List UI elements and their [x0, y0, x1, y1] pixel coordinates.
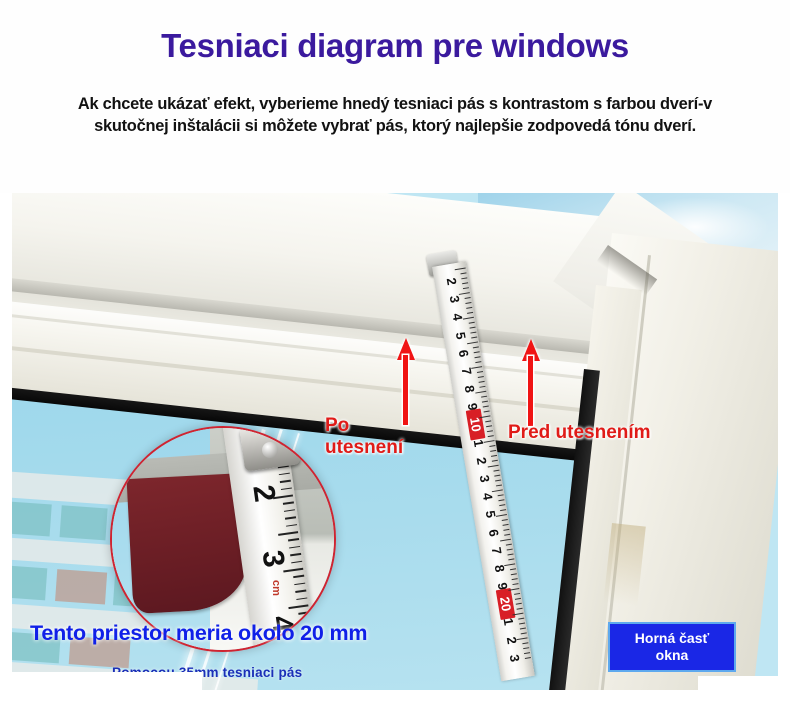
inset-tape-tick: [285, 516, 296, 519]
tape-tick: [516, 603, 522, 605]
tape-tick: [498, 494, 504, 496]
tape-tick: [510, 568, 516, 570]
inset-tape-tick: [291, 560, 302, 563]
label-after-seal: Po utesnení: [325, 415, 403, 459]
tape-tick: [474, 356, 480, 358]
tape-tick: [498, 499, 504, 501]
label-gap-measure: Tento priestor meria okolo 20 mm: [30, 621, 367, 646]
tape-tick: [455, 267, 466, 270]
inset-tape-tick: [288, 538, 299, 541]
tape-tick: [484, 440, 495, 443]
tape-tick: [478, 376, 484, 378]
tape-tick: [467, 341, 478, 344]
tape-tick: [522, 642, 528, 644]
magnified-detail-inset: 234 cm: [110, 426, 336, 652]
inset-tape-tick: [293, 575, 304, 578]
inset-tape-tick: [283, 502, 294, 505]
tape-tick: [517, 608, 523, 610]
tape-number: 3: [505, 642, 525, 674]
tape-tick: [491, 455, 497, 457]
tape-tick: [515, 598, 521, 600]
inset-tape-tick: [279, 472, 290, 475]
tape-tick: [496, 514, 507, 517]
tape-tick: [463, 287, 469, 289]
tape-tick: [499, 504, 505, 506]
tape-tick: [518, 618, 524, 620]
inset-tape-tick: [286, 524, 297, 527]
tape-tick: [474, 351, 480, 353]
tape-tick: [503, 524, 509, 526]
header-section: Tesniaci diagram pre windows Ak chcete u…: [0, 0, 790, 193]
tape-tick: [465, 297, 471, 299]
tape-tick: [483, 406, 489, 408]
tape-tick: [495, 480, 501, 482]
inset-sealing-strip: [127, 473, 249, 614]
tape-tick: [473, 346, 479, 348]
tape-tick: [467, 312, 473, 314]
tape-tick: [512, 583, 518, 585]
tape-tick: [486, 425, 492, 427]
tape-tick: [519, 623, 525, 625]
inset-tape-tick: [295, 590, 306, 593]
tape-tick: [475, 361, 481, 363]
tape-tick: [481, 396, 487, 398]
tape-tick: [492, 460, 498, 462]
tape-tick: [487, 430, 493, 432]
inset-tape-tick: [284, 509, 295, 512]
tape-tick: [469, 322, 475, 324]
inset-tape-rivet: [262, 442, 278, 458]
tape-tick: [517, 637, 528, 640]
inset-tape-tick: [296, 597, 307, 600]
label-before-seal: Pred utesnením: [508, 422, 651, 444]
tape-tick: [462, 282, 468, 284]
page-subtitle: Ak chcete ukázať efekt, vyberieme hnedý …: [55, 94, 735, 138]
tape-tick: [466, 307, 472, 309]
inset-tape-tick: [289, 546, 300, 549]
tape-tick: [488, 465, 499, 468]
tape-tick: [523, 647, 529, 649]
photo-bottom-bleed: [698, 676, 778, 690]
tape-tick: [484, 410, 490, 412]
tape-tick: [512, 613, 523, 616]
tape-tick: [471, 337, 477, 339]
tape-tick: [524, 652, 530, 654]
tape-tick: [470, 327, 476, 329]
tape-tick: [504, 534, 510, 536]
infographic-page: Tesniaci diagram pre windows Ak chcete u…: [0, 0, 790, 703]
tape-tick: [496, 484, 502, 486]
tape-tick: [503, 529, 509, 531]
arrow-shaft: [528, 356, 533, 426]
tape-tick: [494, 475, 500, 477]
tape-tick: [507, 553, 513, 555]
page-title: Tesniaci diagram pre windows: [0, 27, 790, 65]
tape-tick: [489, 445, 495, 447]
tape-tick: [520, 627, 526, 629]
tape-tick: [512, 578, 518, 580]
tape-tick: [508, 558, 514, 560]
inset-tape-tick: [298, 612, 309, 615]
tape-tick: [463, 317, 474, 320]
tape-tick: [479, 381, 485, 383]
product-demo-photo: 234567891012345678920123 234 cm Po utesn…: [12, 193, 778, 690]
tape-tick: [475, 391, 486, 394]
tape-tick: [500, 539, 511, 542]
tape-tick: [493, 470, 499, 472]
tape-tick: [488, 435, 494, 437]
tape-tick: [514, 593, 520, 595]
tape-tick: [479, 386, 485, 388]
inset-tape-number: 2: [243, 466, 284, 520]
arrow-shaft: [403, 355, 408, 425]
tape-tick: [470, 332, 476, 334]
tape-tick: [471, 366, 482, 369]
tape-tick: [521, 632, 527, 634]
tape-tick: [465, 302, 471, 304]
tape-tick: [506, 544, 512, 546]
tape-tick: [511, 573, 517, 575]
tape-tick: [492, 489, 503, 492]
inset-tape-number: 3: [252, 532, 293, 586]
tape-tick: [459, 292, 470, 295]
tape-tick: [485, 420, 491, 422]
tape-tick: [490, 450, 496, 452]
inset-tape-tick: [294, 582, 305, 585]
tape-tick: [502, 519, 508, 521]
inset-tape-tick: [290, 553, 301, 556]
window-part-badge: Horná časť okna: [608, 622, 736, 672]
tape-tick: [504, 563, 515, 566]
tape-tick: [461, 277, 467, 279]
inset-tape-tick: [280, 480, 291, 483]
tape-tick: [479, 415, 490, 418]
tape-tick: [500, 509, 506, 511]
inset-unit-label: cm: [270, 580, 282, 596]
tape-tick: [460, 272, 466, 274]
tape-tick: [477, 371, 483, 373]
tape-tick: [525, 657, 531, 659]
photo-bottom-bleed: [12, 672, 202, 690]
tape-tick: [507, 549, 513, 551]
tape-tick: [508, 588, 519, 591]
tape-tick: [482, 401, 488, 403]
inset-tape-tick: [281, 487, 292, 490]
